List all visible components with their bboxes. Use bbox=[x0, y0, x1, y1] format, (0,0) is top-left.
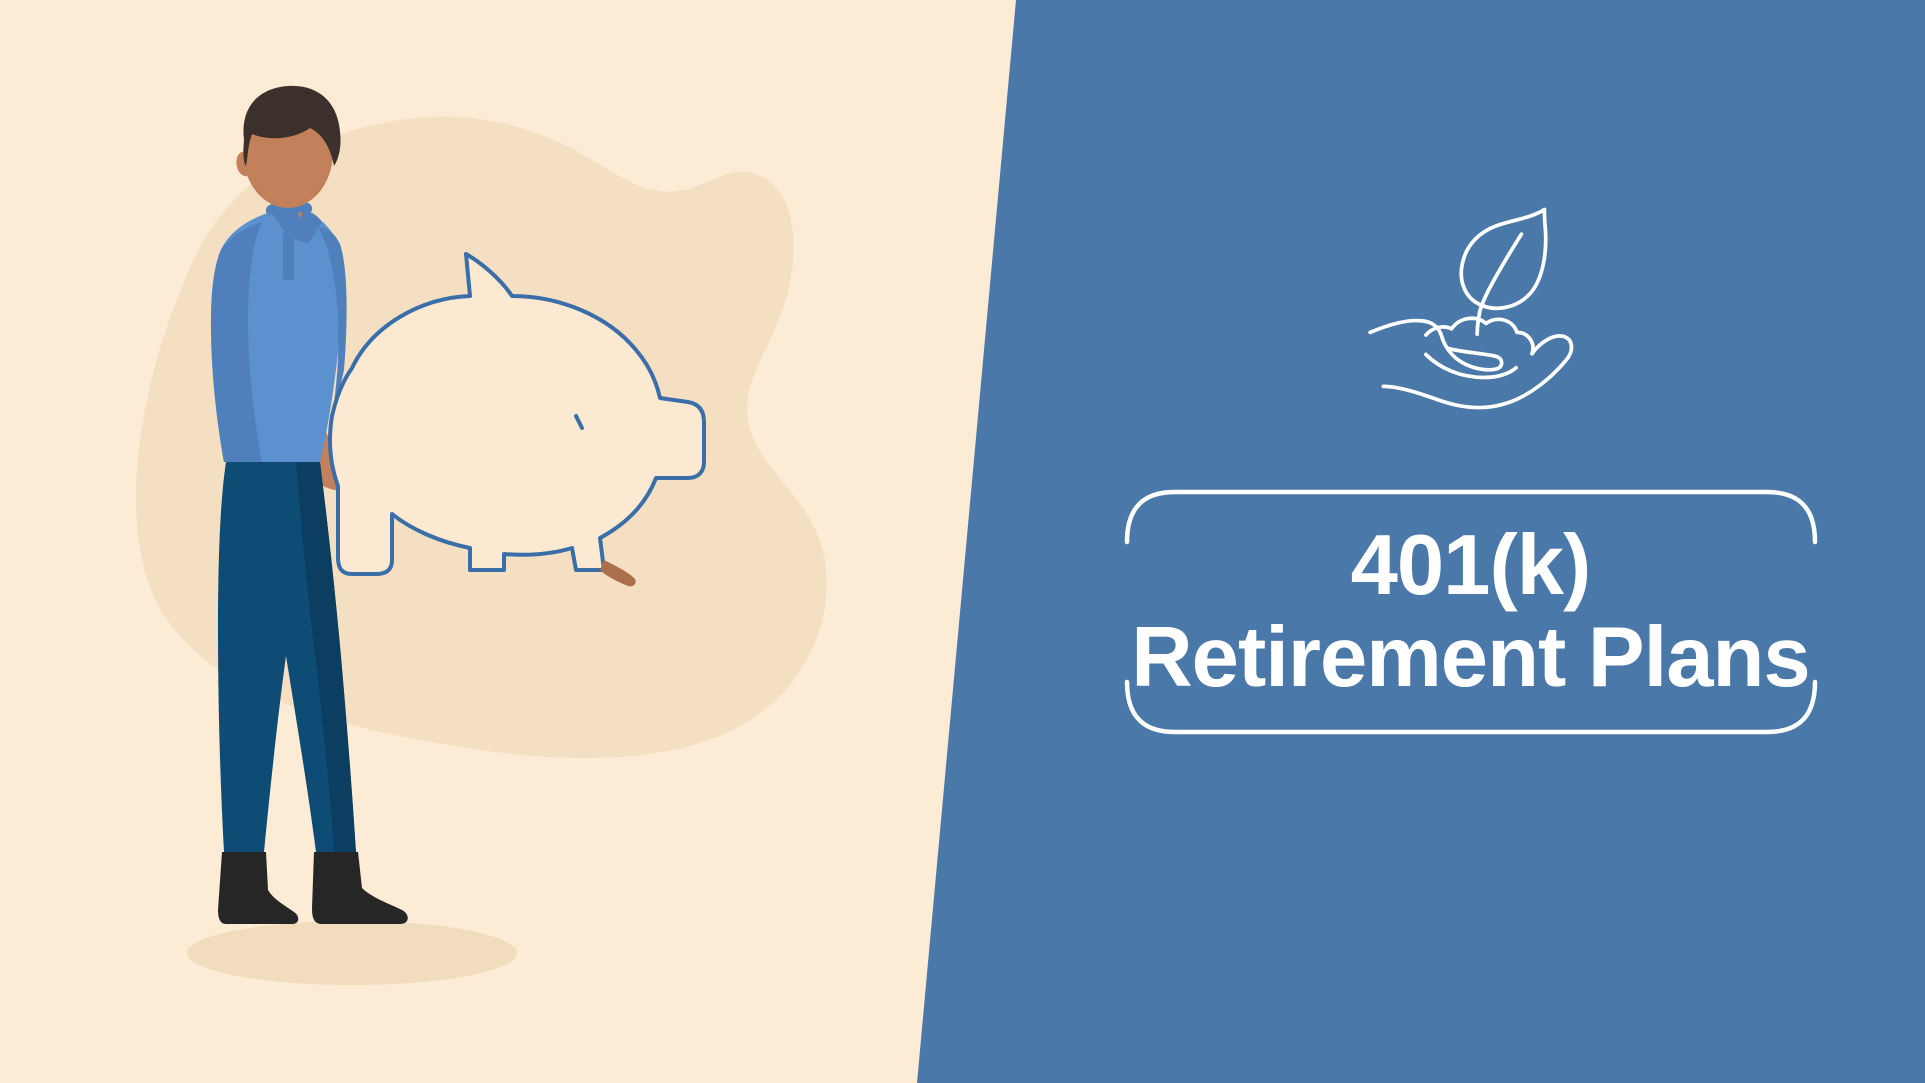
hand-holding-plant-icon bbox=[1356, 182, 1586, 412]
title-line-2: Retirement Plans bbox=[1131, 612, 1809, 704]
title-bracket-frame: 401(k) Retirement Plans bbox=[1121, 468, 1821, 756]
hand-fingers bbox=[1440, 334, 1501, 370]
title-line-1: 401(k) bbox=[1131, 520, 1809, 612]
hand-thumb-edge bbox=[1383, 336, 1571, 408]
plant-stem bbox=[1477, 311, 1480, 334]
leaf-midrib bbox=[1479, 234, 1521, 311]
ground-shadow bbox=[187, 921, 517, 985]
leaf-shape bbox=[1461, 209, 1545, 308]
right-panel-content: 401(k) Retirement Plans bbox=[1016, 0, 1925, 1083]
shoe-left bbox=[218, 852, 298, 924]
person-piggybank-illustration bbox=[0, 0, 1030, 1083]
page-title: 401(k) Retirement Plans bbox=[1131, 520, 1809, 704]
shirt-placket bbox=[283, 232, 294, 280]
banner-root: 401(k) Retirement Plans bbox=[0, 0, 1925, 1083]
shoe-right bbox=[312, 852, 408, 924]
